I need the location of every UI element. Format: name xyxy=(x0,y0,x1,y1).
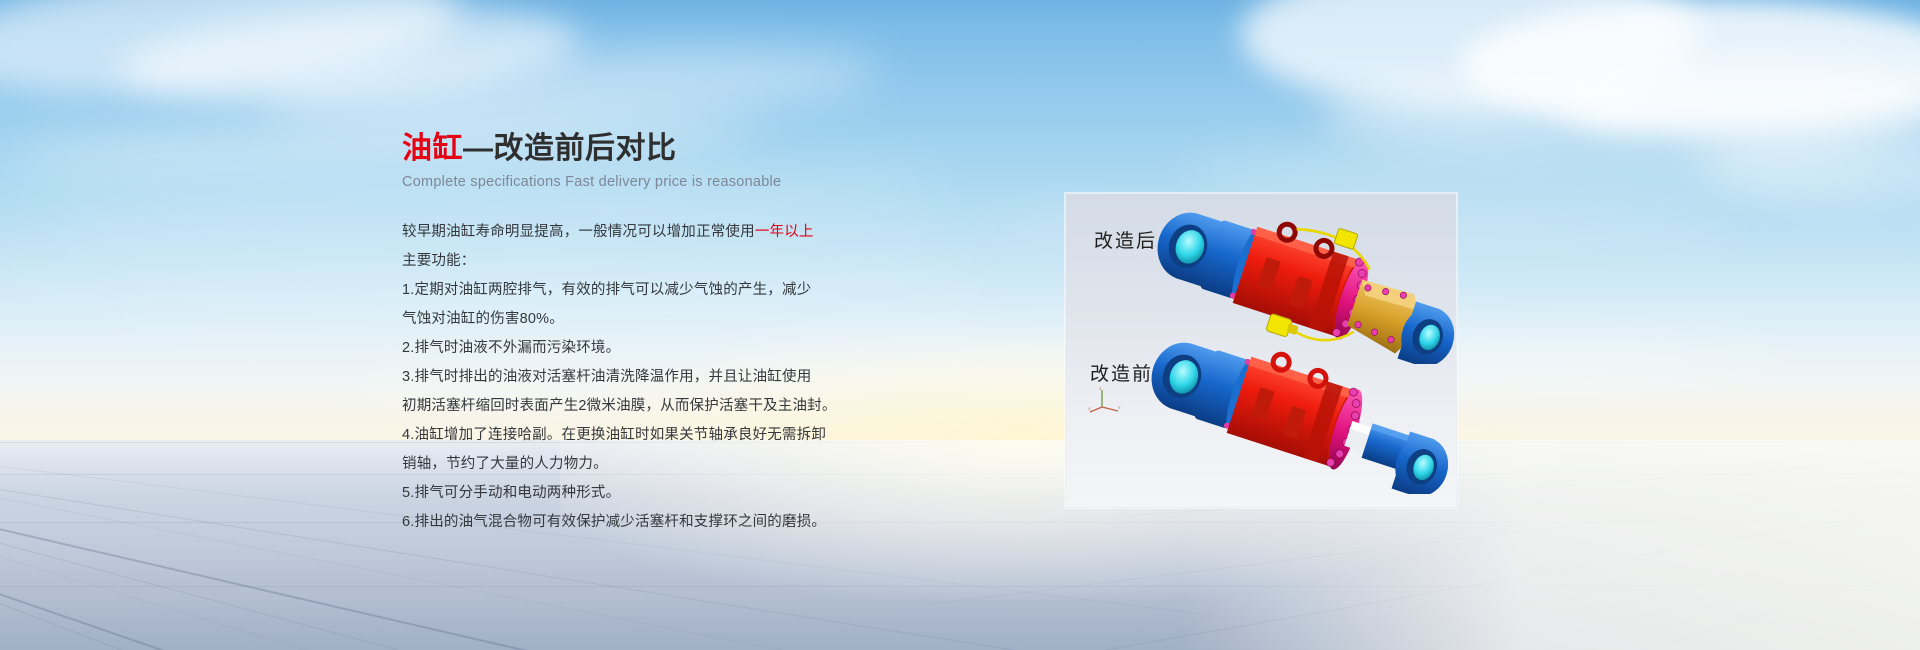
cloud-shape xyxy=(0,0,464,112)
feature-line: 6.排出的油气混合物可有效保护减少活塞杆和支撑环之间的磨损。 xyxy=(402,508,962,537)
cylinder-before-modification xyxy=(1138,334,1457,494)
cloud-shape xyxy=(117,0,582,116)
cloud-shape xyxy=(1700,130,1920,200)
cloud-shape xyxy=(1320,84,1650,148)
feature-line: 3.排气时排出的油液对活塞杆油清洗降温作用，并且让油缸使用 xyxy=(402,363,962,392)
feature-list: 较早期油缸寿命明显提高，一般情况可以增加正常使用一年以上 主要功能： 1.定期对… xyxy=(402,218,962,537)
feature-line-text: 较早期油缸寿命明显提高，一般情况可以增加正常使用 xyxy=(402,224,755,240)
page-title: 油缸—改造前后对比 xyxy=(402,132,962,165)
cloud-shape xyxy=(1180,150,1880,190)
page-title-accent: 油缸 xyxy=(402,132,463,165)
feature-line: 5.排气可分手动和电动两种形式。 xyxy=(402,479,962,508)
feature-line: 1.定期对油缸两腔排气，有效的排气可以减少气蚀的产生，减少 xyxy=(402,276,962,305)
cloud-shape xyxy=(259,36,882,138)
feature-line: 初期活塞杆缩回时表面产生2微米油膜，从而保护活塞干及主油封。 xyxy=(402,392,962,421)
comparison-image-panel: 改造后 改造前 Z X Y xyxy=(1065,193,1457,508)
svg-text:Y: Y xyxy=(1118,405,1121,410)
feature-line: 较早期油缸寿命明显提高，一般情况可以增加正常使用一年以上 xyxy=(402,218,962,247)
cloud-shape xyxy=(1560,60,1920,150)
page-title-rest: —改造前后对比 xyxy=(463,132,677,165)
cloud-shape xyxy=(1460,0,1920,130)
text-column: 油缸—改造前后对比 Complete specifications Fast d… xyxy=(402,132,962,537)
feature-line: 气蚀对油缸的伤害80%。 xyxy=(402,305,962,334)
feature-line: 4.油缸增加了连接哈副。在更换油缸时如果关节轴承良好无需拆卸 xyxy=(402,421,962,450)
cloud-shape xyxy=(1240,0,1700,110)
svg-text:X: X xyxy=(1088,406,1091,411)
feature-line-highlight: 一年以上 xyxy=(755,224,814,240)
coordinate-triad-icon: Z X Y xyxy=(1088,387,1122,413)
feature-line: 销轴，节约了大量的人力物力。 xyxy=(402,450,962,479)
feature-line: 2.排气时油液不外漏而污染环境。 xyxy=(402,334,962,363)
page-subtitle: Complete specifications Fast delivery pr… xyxy=(402,174,962,190)
feature-line: 主要功能： xyxy=(402,247,962,276)
banner-stage: 油缸—改造前后对比 Complete specifications Fast d… xyxy=(0,0,1920,650)
